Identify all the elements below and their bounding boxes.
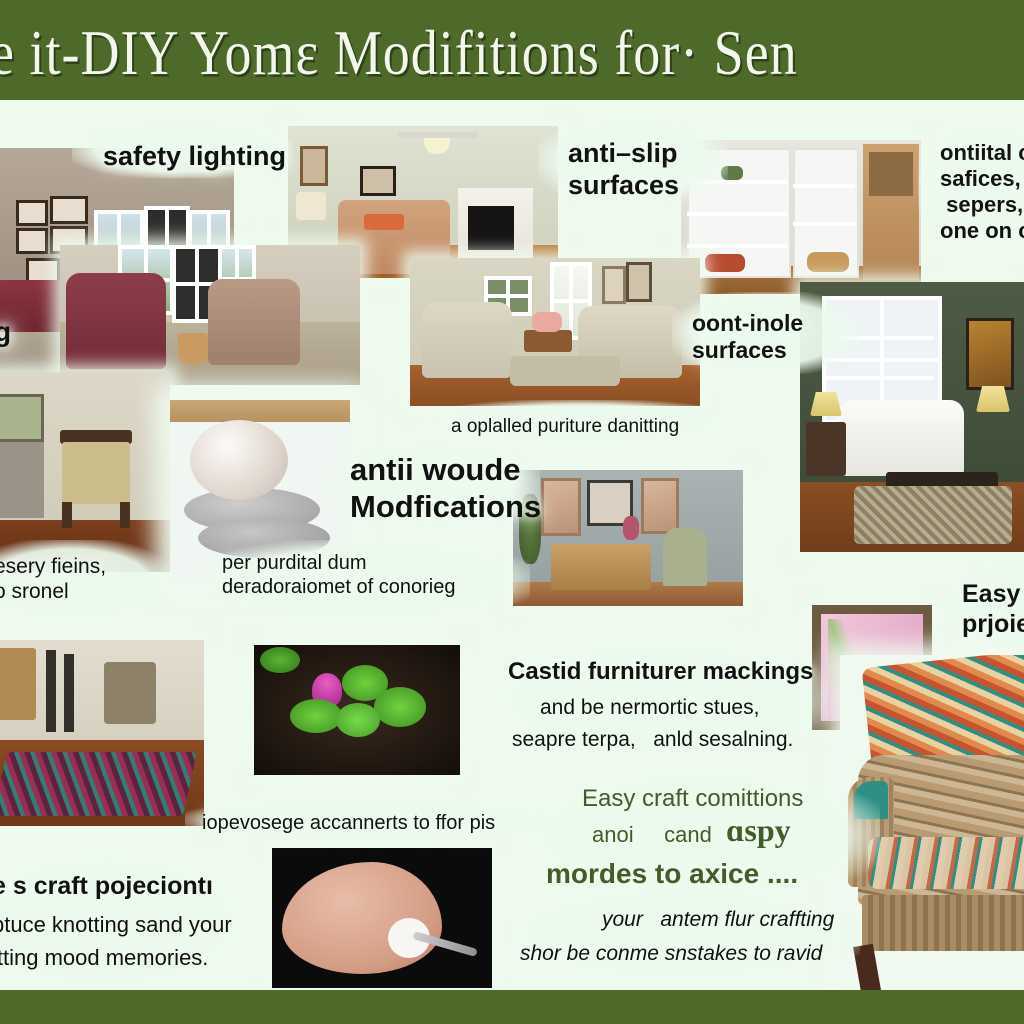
photo-accent-chair: [0, 372, 170, 572]
caption-castid-furniture: Castid furniturer mackings: [508, 658, 813, 686]
caption-shor-be-conme: shor be conme snstakes to ravid: [520, 942, 822, 967]
caption-easy-projects-right: Easy c prjoiec: [962, 580, 1024, 639]
photo-green-room-sofa: [800, 282, 1024, 552]
caption-itting-mood: itting mood memories.: [0, 945, 208, 971]
caption-anti-woude-modifications: antii woude Modfications: [350, 452, 541, 525]
poster-board: safety lighting anti–slip surfaces g ont…: [0, 100, 1024, 990]
caption-mordes-to-axice: mordes to axice ....: [546, 857, 798, 890]
caption-applied-furniture: a oplalled puriture danitting: [451, 416, 679, 438]
photo-braided-rug: [0, 640, 204, 826]
caption-and-be-nermortic: and be nermortic stues,: [540, 696, 759, 721]
caption-iopevosege: iopevosege accannerts to ffor pis: [202, 812, 495, 836]
poster-root: te it-DIY Yomε Modifitions for· Sen: [0, 0, 1024, 1024]
poster-header: te it-DIY Yomε Modifitions for· Sen: [0, 0, 1024, 100]
poster-footer: [0, 990, 1024, 1024]
caption-esery-fieins: esery fieins, o sronel: [0, 555, 106, 605]
caption-anti-slip-surfaces: anti–slip surfaces: [568, 138, 679, 202]
caption-anoi-cand: anoi cand: [592, 822, 712, 848]
caption-cispy: ɑspy: [726, 812, 791, 850]
caption-seapre-terps: seapre terpa, anld sesalning.: [512, 728, 793, 753]
photo-wicker-armchair: [840, 655, 1024, 990]
caption-safety-lighting: safety lighting: [103, 141, 286, 173]
caption-easy-craft-comittions: Easy craft comittions: [582, 785, 803, 813]
photo-slipcover-livingroom: [410, 258, 700, 406]
caption-your-antem: your antem flur craffting: [602, 908, 834, 933]
photo-recliners: [60, 245, 360, 385]
caption-craft-pojeciont: e s craft pojeciontı: [0, 872, 213, 902]
caption-left-cut-fragment: g: [0, 315, 11, 348]
poster-title: te it-DIY Yomε Modifitions for· Sen: [0, 16, 798, 89]
caption-right-cut-block: ontiital co safices, a sepers, to one on…: [940, 140, 1024, 244]
caption-comfort-surfaces: oont-inole surfaces: [692, 310, 803, 364]
photo-plant-flower: [254, 645, 460, 775]
photo-hand-crochet: [272, 848, 492, 988]
photo-dresser-artwork: [513, 470, 743, 606]
caption-ptuce-knotting: ptuce knotting sand your: [0, 912, 232, 938]
caption-per-purdital: per purdital dum deradoraiomet of conori…: [222, 552, 455, 599]
photo-white-shelving: [681, 140, 921, 294]
